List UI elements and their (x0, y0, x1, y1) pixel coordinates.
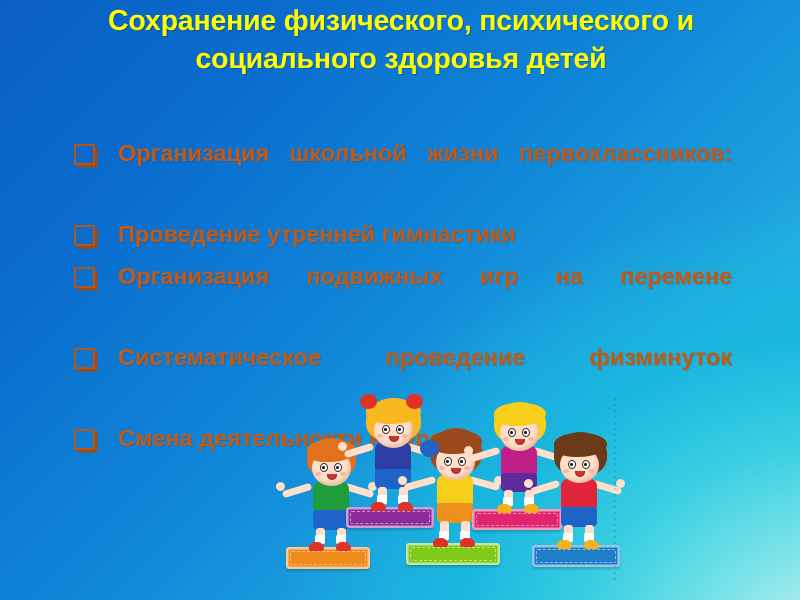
list-item-label: Организация подвижных игр на перемене (118, 257, 732, 335)
shoe-right (460, 538, 475, 547)
eye-right (334, 463, 342, 472)
shirt (313, 482, 349, 513)
cheek-left (439, 466, 445, 470)
presentation-slide: Сохранение физического, психического и с… (0, 0, 800, 600)
cheek-left (563, 469, 569, 473)
shorts (561, 507, 597, 527)
square-bullet-icon (74, 267, 95, 288)
eye-right (458, 457, 466, 466)
shirt (561, 479, 597, 510)
hand-left (338, 442, 347, 451)
shoe-right (584, 540, 599, 549)
shoe-left (557, 540, 572, 549)
eye-left (320, 463, 328, 472)
cheek-left (377, 434, 383, 438)
shoe-right (336, 542, 351, 551)
eye-right (582, 460, 590, 469)
shoe-right (398, 502, 413, 511)
cheek-right (588, 469, 594, 473)
hair-bow-left (360, 394, 377, 409)
clipart-edge-artifact (614, 398, 616, 580)
eye-left (508, 428, 516, 437)
child-figure (536, 432, 622, 568)
children-exercising-illustration (288, 390, 618, 575)
cheek-right (464, 466, 470, 470)
hair-bow-right (406, 394, 423, 409)
cheek-left (315, 472, 321, 476)
shoe-left (433, 538, 448, 547)
cheek-left (503, 437, 509, 441)
square-bullet-icon (74, 225, 95, 246)
exercise-mat (406, 543, 500, 565)
list-item-label: Организация школьной жизни первоклассник… (118, 134, 732, 212)
eye-left (568, 460, 576, 469)
cheek-right (528, 437, 534, 441)
eye-right (522, 428, 530, 437)
arm-left (282, 483, 313, 498)
eye-left (444, 457, 452, 466)
list-item: Организация школьной жизни первоклассник… (68, 134, 732, 212)
hand-left (276, 482, 285, 491)
hand-left (464, 446, 473, 455)
list-item: Проведение утренней гимнастики (68, 215, 732, 254)
hair-bow (420, 440, 439, 457)
shorts (313, 510, 349, 530)
square-bullet-icon (74, 144, 95, 165)
list-item: Организация подвижных игр на перемене (68, 257, 732, 335)
shoe-left (309, 542, 324, 551)
square-bullet-icon (74, 429, 95, 450)
square-bullet-icon (74, 348, 95, 369)
shoe-left (371, 502, 386, 511)
cheek-right (402, 434, 408, 438)
shoe-left (497, 504, 512, 513)
hand-right (616, 479, 625, 488)
exercise-mat (286, 547, 370, 569)
slide-title: Сохранение физического, психического и с… (96, 2, 706, 78)
eye-right (396, 425, 404, 434)
exercise-mat (532, 545, 620, 567)
cheek-right (340, 472, 346, 476)
list-item-label: Проведение утренней гимнастики (118, 215, 732, 254)
hand-left (524, 479, 533, 488)
hand-left (398, 476, 407, 485)
shorts (437, 503, 473, 523)
eye-left (382, 425, 390, 434)
